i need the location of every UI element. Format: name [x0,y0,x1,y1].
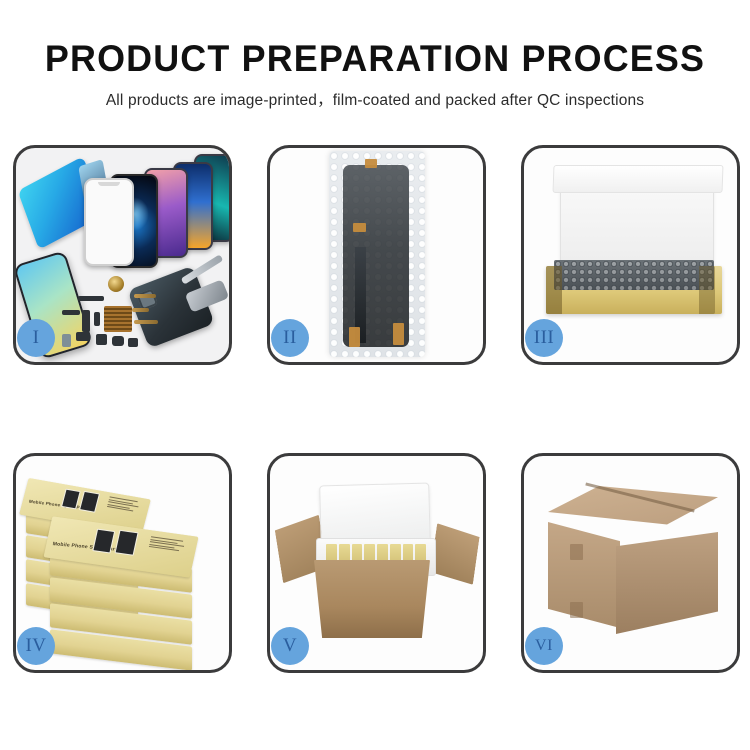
step-panel-5[interactable]: V [267,453,486,673]
process-steps-grid: I II [13,145,740,677]
tape-icon [570,602,583,618]
tape-icon [349,327,360,347]
page-title: PRODUCT PREPARATION PROCESS [11,38,739,80]
part-chip-icon [128,338,138,347]
step-panel-1[interactable]: I [13,145,232,365]
wrapped-screen-icon [343,165,409,347]
carton-flap-right-icon [429,523,480,585]
page-subtitle: All products are image-printed，film-coat… [0,91,750,111]
header: PRODUCT PREPARATION PROCESS All products… [0,0,750,111]
part-bar-icon [62,310,80,315]
carton-right-face [616,532,718,634]
tape-icon [353,223,366,232]
box-stack: Mobile Phone Spare Parts [24,474,224,662]
step-panel-2[interactable]: II [267,145,486,365]
part-strip-icon [82,310,90,332]
sim-tray-icon [62,334,71,347]
step-panel-4[interactable]: Mobile Phone Spare Parts [13,453,232,673]
step-badge-5: V [271,627,309,665]
step-badge-4: IV [17,627,55,665]
step-panel-6[interactable]: VI [521,453,740,673]
tape-icon [393,323,404,345]
box-side-left-icon [546,266,562,314]
step-badge-1: I [17,319,55,357]
flex-cable-icon [134,294,156,298]
part-strip-icon [94,312,100,326]
part-button-icon [112,336,124,346]
part-chip-icon [76,332,90,341]
screen-protector-icon [84,178,134,266]
step-badge-6: VI [525,627,563,665]
product-preparation-infographic: PRODUCT PREPARATION PROCESS All products… [0,0,750,750]
flex-cable-icon [132,308,149,312]
tape-icon [570,544,583,560]
tape-icon [365,159,377,168]
box-side-right-icon [699,266,715,314]
flex-cable-icon [134,320,158,324]
step-badge-3: III [525,319,563,357]
bubble-wrap-package-icon [329,151,425,357]
step-panel-3[interactable]: III [521,145,740,365]
carton-left-face [548,522,620,628]
logic-board-grid-icon [104,306,132,332]
part-chip-icon [96,334,107,345]
part-bar-icon [78,296,104,301]
carton-body-icon [314,560,430,638]
bubble-wrap-insert-icon [554,260,714,290]
sealed-carton-icon [548,486,718,634]
step-badge-2: II [271,319,309,357]
speaker-coil-icon [108,276,124,292]
